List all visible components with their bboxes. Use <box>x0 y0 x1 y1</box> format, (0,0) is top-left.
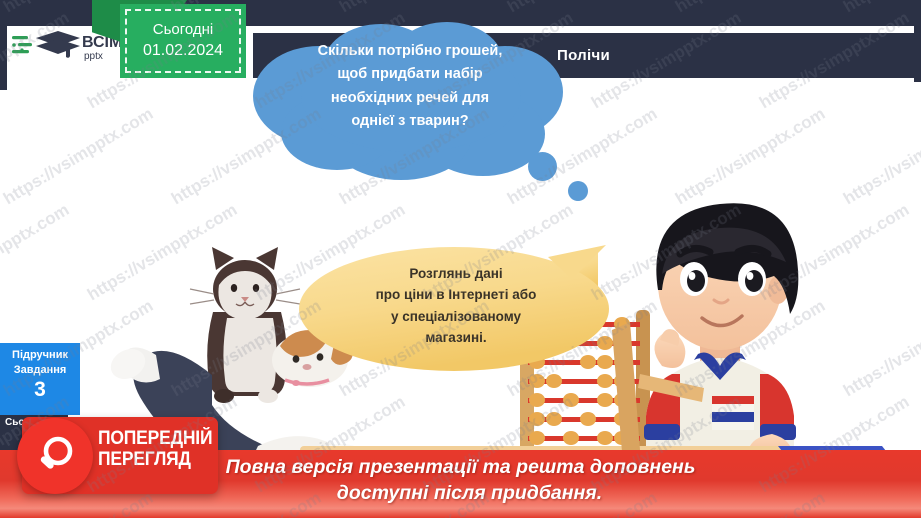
presentation-slide: Скільки потрібно грошей, щоб придбати на… <box>0 0 921 518</box>
task-badge-line-1: Підручник <box>12 348 68 363</box>
today-date-badge: Сьогодні 01.02.2024 <box>120 4 246 78</box>
question-line-4: однієї з тварин? <box>260 110 560 133</box>
thinking-boy-illustration <box>644 203 798 460</box>
left-dark-edge <box>0 0 7 90</box>
banner-line-1: Повна версія презентації та решта доповн… <box>0 455 921 481</box>
textbook-task-badge[interactable]: Підручник Завдання 3 <box>0 343 80 415</box>
question-bubble-text: Скільки потрібно грошей, щоб придбати на… <box>260 40 560 134</box>
question-line-1: Скільки потрібно грошей, <box>260 40 560 63</box>
instruction-line-4: магазині. <box>312 327 600 348</box>
preview-line-1: ПОПЕРЕДНІЙ <box>98 429 207 450</box>
banner-line-2: доступні після придбання. <box>0 481 921 507</box>
date-badge-label: Сьогодні <box>153 22 214 39</box>
instruction-line-3: у спеціалізованому <box>312 306 600 327</box>
right-dark-edge <box>914 0 921 82</box>
purchase-notice-text: Повна версія презентації та решта доповн… <box>0 455 921 506</box>
thought-bubble-dot-small <box>568 181 588 201</box>
instruction-bubble-text: Розглянь дані про ціни в Інтернеті або у… <box>312 263 600 348</box>
instruction-line-1: Розглянь дані <box>312 263 600 284</box>
instruction-line-2: про ціни в Інтернеті або <box>312 284 600 305</box>
brand-suffix: pptx <box>84 51 103 62</box>
question-line-2: щоб придбати набір <box>260 63 560 86</box>
task-badge-number: 3 <box>34 379 46 401</box>
date-badge-value: 01.02.2024 <box>143 42 223 60</box>
task-badge-line-2: Завдання <box>14 363 67 378</box>
question-line-3: необхідних речей для <box>260 87 560 110</box>
thought-bubble-dot-large <box>528 152 557 181</box>
graduation-cap-icon <box>12 31 80 58</box>
